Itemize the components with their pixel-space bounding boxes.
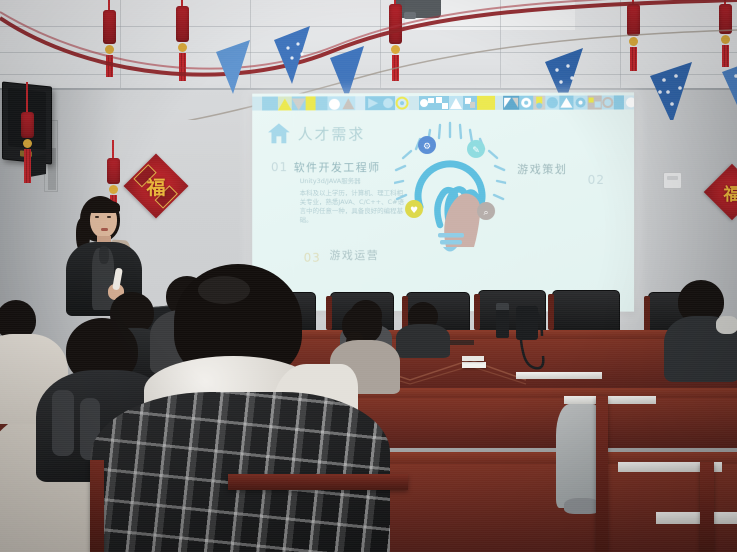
svg-text:⌕: ⌕ bbox=[484, 208, 489, 218]
notebook-2 bbox=[462, 356, 484, 361]
slide-item-01-number: 01 bbox=[271, 160, 288, 174]
bench-post-right-1 bbox=[596, 396, 608, 552]
slide-item-03-number: 03 bbox=[304, 251, 321, 265]
audience-member-plaid-foreground bbox=[116, 264, 416, 552]
thermos-flask bbox=[496, 308, 509, 338]
slide-item-01-subheading: Unity3d/JAVA服务器 bbox=[300, 177, 407, 186]
slide-item-02-number: 02 bbox=[588, 173, 605, 187]
presenter-fringe bbox=[87, 200, 120, 213]
slide-item-01-heading: 软件开发工程师 bbox=[294, 159, 381, 175]
thermos-cap bbox=[496, 303, 509, 310]
slide-title: 人才需求 bbox=[298, 123, 366, 144]
light-switch[interactable] bbox=[663, 172, 682, 189]
svg-text:♥: ♥ bbox=[410, 206, 418, 216]
bench-post-left-1 bbox=[90, 460, 104, 552]
lecture-hall-photo: 福 福 bbox=[0, 0, 737, 552]
backpack-strap bbox=[512, 300, 558, 400]
lightbulb-with-hand-icon: ⚙ ✎ ♥ ⌕ bbox=[394, 121, 506, 257]
desk-writing-surface-4 bbox=[656, 512, 737, 524]
slide-item-03-heading: 游戏运营 bbox=[329, 247, 379, 263]
home-icon bbox=[267, 122, 291, 144]
slide-item-01-body: 本科及以上学历，计算机、理工科相关专业，熟悉JAVA、C/C++、C#语言中的任… bbox=[300, 189, 407, 225]
slide-decorative-bar bbox=[252, 95, 634, 110]
slide-item-02-heading: 游戏策划 bbox=[517, 161, 567, 177]
svg-text:✎: ✎ bbox=[472, 146, 480, 156]
notebook bbox=[462, 362, 486, 368]
desk-writing-surface-2 bbox=[564, 396, 656, 404]
svg-text:⚙: ⚙ bbox=[423, 142, 431, 152]
bench-post-right-2 bbox=[700, 462, 714, 552]
bench-rail-center bbox=[228, 474, 408, 490]
chair-back-6 bbox=[552, 290, 620, 332]
plaid-person-coat bbox=[90, 392, 390, 552]
audience-member-far-right bbox=[664, 280, 737, 380]
